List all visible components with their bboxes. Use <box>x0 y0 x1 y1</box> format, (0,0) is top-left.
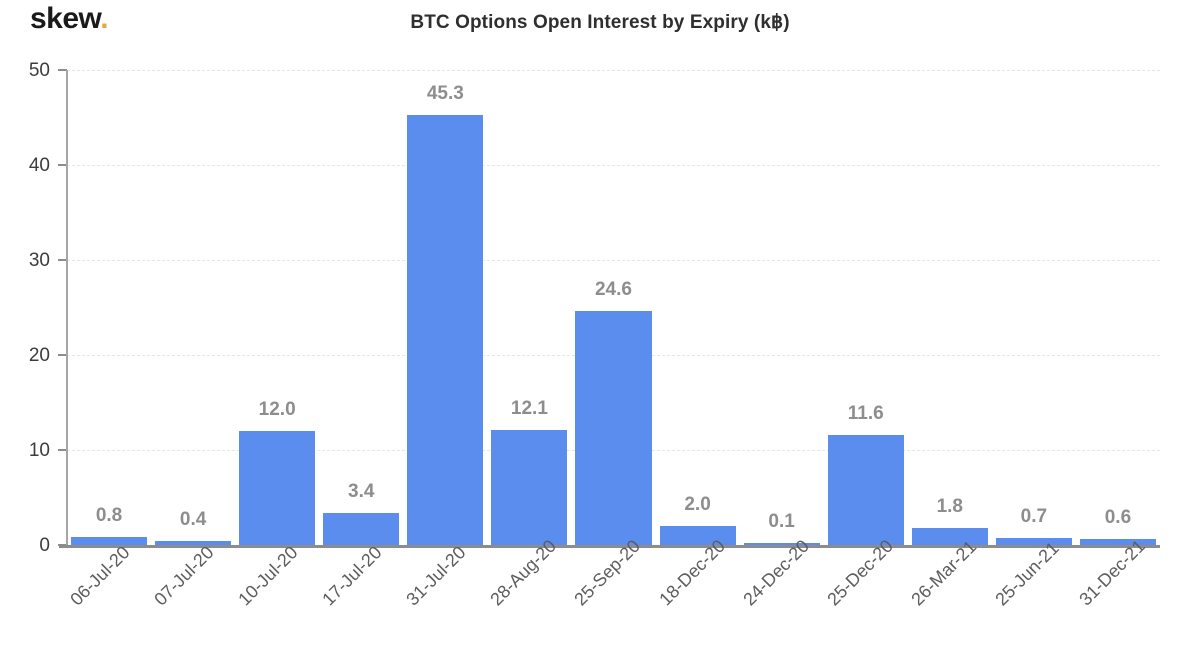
x-axis-tick-label: 10-Jul-20 <box>235 543 301 609</box>
x-axis-labels: 06-Jul-2007-Jul-2010-Jul-2017-Jul-2031-J… <box>67 552 1160 662</box>
bar[interactable] <box>828 435 904 545</box>
bar-slot[interactable]: 1.8 <box>908 70 992 545</box>
x-axis-label-slot: 25-Jun-21 <box>992 552 1076 662</box>
y-axis-tick-label: 0 <box>2 536 50 555</box>
bar[interactable] <box>1080 539 1156 545</box>
x-axis-label-slot: 26-Mar-21 <box>908 552 992 662</box>
x-axis-tick-label: 31-Jul-20 <box>403 543 469 609</box>
bar-value-label: 2.0 <box>656 495 740 514</box>
x-axis-label-slot: 25-Dec-20 <box>824 552 908 662</box>
bar-slot[interactable]: 2.0 <box>656 70 740 545</box>
chart-title: BTC Options Open Interest by Expiry (k฿) <box>0 11 1200 34</box>
bar-slot[interactable]: 11.6 <box>824 70 908 545</box>
bar[interactable] <box>491 430 567 545</box>
bar-slot[interactable]: 12.0 <box>235 70 319 545</box>
bar-slot[interactable]: 3.4 <box>319 70 403 545</box>
x-axis-line <box>59 545 1160 548</box>
bar-value-label: 12.0 <box>235 400 319 419</box>
bar-slot[interactable]: 24.6 <box>571 70 655 545</box>
x-axis-tick-label: 06-Jul-20 <box>67 543 133 609</box>
x-axis-tick-label: 26-Mar-21 <box>908 537 979 608</box>
bar-slot[interactable]: 45.3 <box>403 70 487 545</box>
bar-value-label: 0.1 <box>740 512 824 531</box>
bar-value-label: 0.4 <box>151 510 235 529</box>
bar[interactable] <box>155 541 231 545</box>
bar-slot[interactable]: 0.1 <box>740 70 824 545</box>
bar-series: 0.80.412.03.445.312.124.62.00.111.61.80.… <box>67 70 1160 545</box>
x-axis-tick-label: 25-Jun-21 <box>992 539 1062 609</box>
bar[interactable] <box>912 528 988 545</box>
bar-slot[interactable]: 0.8 <box>67 70 151 545</box>
bar[interactable] <box>996 538 1072 545</box>
y-axis-tick-label: 10 <box>2 441 50 460</box>
bar-value-label: 3.4 <box>319 482 403 501</box>
x-axis-label-slot: 25-Sep-20 <box>571 552 655 662</box>
bar-value-label: 1.8 <box>908 497 992 516</box>
x-axis-label-slot: 24-Dec-20 <box>740 552 824 662</box>
y-axis-tick-label: 50 <box>2 61 50 80</box>
bar[interactable] <box>660 526 736 545</box>
y-axis-tick-label: 30 <box>2 251 50 270</box>
bar-value-label: 24.6 <box>571 280 655 299</box>
x-axis-tick-label: 07-Jul-20 <box>151 543 217 609</box>
x-axis-label-slot: 28-Aug-20 <box>487 552 571 662</box>
y-axis-tick-label: 20 <box>2 346 50 365</box>
bar[interactable] <box>407 115 483 545</box>
x-axis-label-slot: 31-Dec-21 <box>1076 552 1160 662</box>
x-axis-label-slot: 18-Dec-20 <box>656 552 740 662</box>
x-axis-label-slot: 31-Jul-20 <box>403 552 487 662</box>
x-axis-label-slot: 10-Jul-20 <box>235 552 319 662</box>
bar-slot[interactable]: 0.6 <box>1076 70 1160 545</box>
bar[interactable] <box>575 311 651 545</box>
bar-value-label: 12.1 <box>487 399 571 418</box>
bar-value-label: 0.7 <box>992 507 1076 526</box>
bar[interactable] <box>239 431 315 545</box>
chart-page: skew. BTC Options Open Interest by Expir… <box>0 0 1200 670</box>
x-axis-label-slot: 07-Jul-20 <box>151 552 235 662</box>
bar-value-label: 11.6 <box>824 404 908 423</box>
bar[interactable] <box>323 513 399 545</box>
bar-slot[interactable]: 0.4 <box>151 70 235 545</box>
bar-value-label: 0.8 <box>67 506 151 525</box>
x-axis-label-slot: 06-Jul-20 <box>67 552 151 662</box>
bar-slot[interactable]: 12.1 <box>487 70 571 545</box>
x-axis-tick-label: 17-Jul-20 <box>319 543 385 609</box>
bar-slot[interactable]: 0.7 <box>992 70 1076 545</box>
plot-area: 0.80.412.03.445.312.124.62.00.111.61.80.… <box>67 70 1160 545</box>
bar-value-label: 45.3 <box>403 84 487 103</box>
bar[interactable] <box>71 537 147 545</box>
x-axis-label-slot: 17-Jul-20 <box>319 552 403 662</box>
bar-value-label: 0.6 <box>1076 508 1160 527</box>
y-axis-tick-label: 40 <box>2 156 50 175</box>
